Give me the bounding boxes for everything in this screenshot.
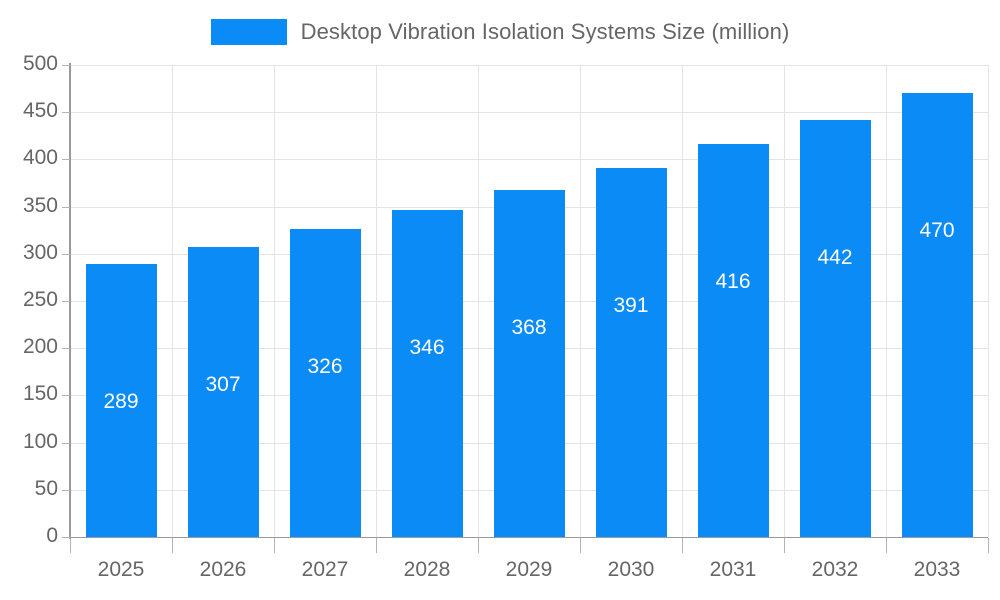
- x-axis-tick-label: 2026: [172, 558, 274, 582]
- y-axis-tick: [62, 395, 70, 396]
- x-axis-tick: [274, 538, 275, 553]
- y-axis-tick: [62, 112, 70, 113]
- bar[interactable]: [188, 247, 259, 537]
- x-axis-tick-label: 2028: [376, 558, 478, 582]
- gridline-vertical: [886, 65, 887, 537]
- x-axis-tick: [70, 538, 71, 553]
- gridline-vertical: [376, 65, 377, 537]
- gridline-vertical: [682, 65, 683, 537]
- x-axis-tick: [172, 538, 173, 553]
- legend-color-swatch[interactable]: [211, 19, 287, 45]
- y-axis-tick: [62, 348, 70, 349]
- plot-area: 289307326346368391416442470: [70, 65, 988, 537]
- bar-chart: Desktop Vibration Isolation Systems Size…: [0, 0, 1000, 600]
- x-axis-tick: [376, 538, 377, 553]
- y-axis-tick-label: 200: [0, 335, 58, 359]
- x-axis-tick: [784, 538, 785, 553]
- bar[interactable]: [698, 144, 769, 537]
- x-axis-tick-label: 2029: [478, 558, 580, 582]
- y-axis-tick-label: 0: [0, 524, 58, 548]
- x-axis-tick: [682, 538, 683, 553]
- x-axis-tick-label: 2030: [580, 558, 682, 582]
- gridline-vertical: [172, 65, 173, 537]
- y-axis-tick-label: 250: [0, 288, 58, 312]
- bar[interactable]: [494, 190, 565, 537]
- chart-legend: Desktop Vibration Isolation Systems Size…: [0, 16, 1000, 48]
- x-axis-tick-label: 2027: [274, 558, 376, 582]
- y-axis-tick-label: 150: [0, 382, 58, 406]
- gridline-vertical: [274, 65, 275, 537]
- y-axis-tick: [62, 65, 70, 66]
- x-axis-tick: [478, 538, 479, 553]
- bar[interactable]: [86, 264, 157, 537]
- gridline-vertical: [988, 65, 989, 537]
- legend-series-label[interactable]: Desktop Vibration Isolation Systems Size…: [301, 19, 790, 45]
- bar[interactable]: [902, 93, 973, 537]
- x-axis-tick-label: 2025: [70, 558, 172, 582]
- y-axis-tick: [62, 301, 70, 302]
- y-axis-tick: [62, 537, 70, 538]
- y-axis-tick-label: 500: [0, 52, 58, 76]
- x-axis-tick-label: 2033: [886, 558, 988, 582]
- x-axis-tick: [988, 538, 989, 553]
- y-axis-tick: [62, 159, 70, 160]
- x-axis-tick-label: 2032: [784, 558, 886, 582]
- x-axis-tick: [886, 538, 887, 553]
- y-axis-tick-label: 50: [0, 477, 58, 501]
- gridline-horizontal: [70, 65, 988, 66]
- y-axis-tick-label: 400: [0, 146, 58, 170]
- x-axis-line: [70, 537, 988, 538]
- bar[interactable]: [800, 120, 871, 537]
- gridline-vertical: [784, 65, 785, 537]
- y-axis-tick-label: 300: [0, 241, 58, 265]
- y-axis-tick: [62, 254, 70, 255]
- y-axis-tick: [62, 490, 70, 491]
- bar[interactable]: [392, 210, 463, 537]
- gridline-horizontal: [70, 112, 988, 113]
- x-axis-labels: 202520262027202820292030203120322033: [70, 558, 988, 588]
- bar[interactable]: [290, 229, 361, 537]
- y-axis-tick: [62, 443, 70, 444]
- x-axis-tick-label: 2031: [682, 558, 784, 582]
- gridline-vertical: [580, 65, 581, 537]
- bar[interactable]: [596, 168, 667, 537]
- y-axis-tick-label: 100: [0, 430, 58, 454]
- y-axis-tick-label: 450: [0, 99, 58, 123]
- y-axis-tick-label: 350: [0, 194, 58, 218]
- x-axis-tick: [580, 538, 581, 553]
- y-axis-tick: [62, 207, 70, 208]
- y-axis-labels: 050100150200250300350400450500: [0, 0, 58, 600]
- gridline-vertical: [478, 65, 479, 537]
